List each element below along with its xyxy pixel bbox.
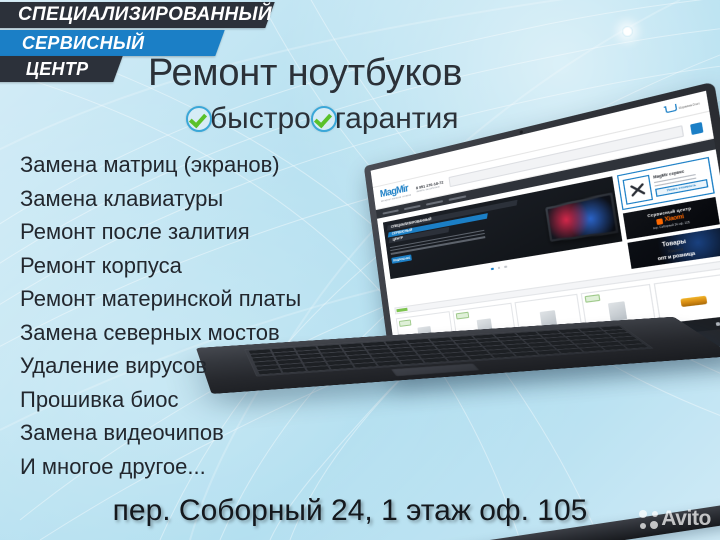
ribbon-center: ЦЕНТР [0, 56, 123, 82]
avito-label: Avito [661, 507, 711, 531]
list-item: И многое другое... [20, 450, 301, 484]
site-phone: 8 951 276-18-72 звоните, мы работаем [416, 179, 445, 193]
tray-icon[interactable] [715, 322, 720, 326]
background-glow-dot [622, 26, 633, 37]
check-circle-icon [186, 106, 212, 132]
avito-watermark: Avito [639, 507, 711, 531]
list-item: Прошивка биос [20, 383, 301, 417]
product-tag [456, 312, 470, 320]
nav-item-payment[interactable] [426, 200, 443, 206]
services-items: Замена матриц (экранов) Замена клавиатур… [20, 148, 301, 483]
tools-wrench-icon [622, 174, 652, 204]
address-text: пер. Соборный 24, 1 этаж оф. 105 [0, 494, 700, 528]
cart-label: Корзина 0 шт. [678, 100, 700, 110]
nav-item-contacts[interactable] [448, 195, 466, 201]
site-sidebar: MagMir сервис Узнать стоимость Сервисный… [617, 157, 720, 269]
product-thumbnail-battery [680, 296, 707, 307]
ribbon-service-label: СЕРВИСНЫЙ [0, 33, 145, 54]
benefit-fast: быстро [210, 102, 311, 136]
poster-advertisement: Корзина 0 шт. MagMir интернет-магазин те… [0, 0, 720, 540]
carousel-dot-1[interactable] [491, 267, 494, 270]
hero-laptop-image [545, 192, 618, 242]
product-tag [399, 319, 412, 327]
service-promo-text: MagMir сервис Узнать стоимость [653, 165, 708, 196]
list-item: Замена северных мостов [20, 316, 301, 350]
list-item: Ремонт материнской платы [20, 282, 301, 316]
ribbon-specialized-label: СПЕЦИАЛИЗИРОВАННЫЙ [0, 4, 272, 26]
site-logo[interactable]: MagMir интернет-магазин техники [380, 184, 412, 204]
nav-item-delivery[interactable] [404, 204, 421, 209]
carousel-dot-3[interactable] [504, 265, 507, 268]
hero-cta-button[interactable]: ПОДРОБНЕЕ [391, 254, 412, 263]
product-thumbnail [608, 301, 627, 321]
product-tag [585, 294, 601, 303]
site-search-button[interactable] [690, 121, 703, 134]
avito-logo-icon [639, 510, 658, 529]
benefit-warranty: гарантия [335, 102, 459, 136]
list-item: Ремонт после залития [20, 215, 301, 249]
list-item: Замена клавиатуры [20, 182, 301, 216]
ribbon-center-label: ЦЕНТР [0, 59, 89, 80]
xiaomi-logo-icon [656, 218, 663, 225]
check-circle-icon [311, 106, 337, 132]
page-title: Ремонт ноутбуков [148, 52, 462, 95]
list-item: Замена матриц (экранов) [20, 148, 301, 182]
list-item: Ремонт корпуса [20, 249, 301, 283]
ribbon-specialized: СПЕЦИАЛИЗИРОВАННЫЙ [0, 2, 275, 28]
list-item: Удаление вирусов [20, 349, 301, 383]
list-item: Замена видеочипов [20, 416, 301, 450]
benefits-row: быстро гарантия [186, 102, 459, 136]
cart-icon[interactable] [663, 104, 676, 115]
services-list: Замена матриц (экранов) Замена клавиатур… [20, 148, 301, 483]
ad2-bottom-text: опт и розница [657, 250, 695, 261]
nav-item-catalog[interactable] [382, 209, 398, 214]
carousel-dot-2[interactable] [497, 266, 500, 269]
